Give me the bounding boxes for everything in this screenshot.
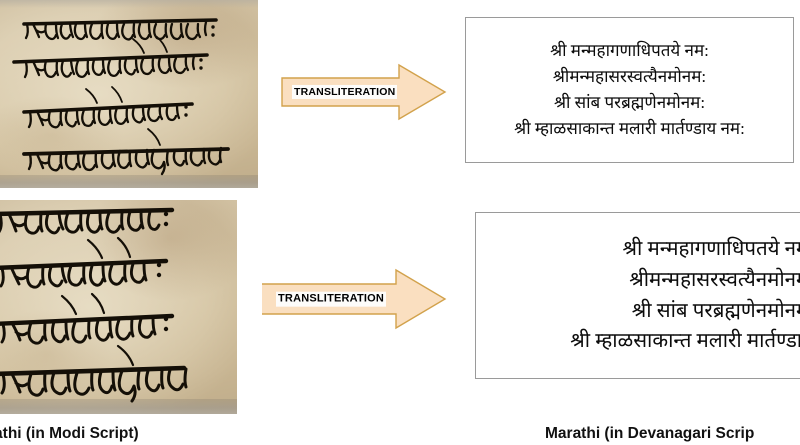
devanagari-textbox-top: श्री मन्महागणाधिपतये नम: श्रीमन्महासरस्व… bbox=[465, 17, 794, 163]
transliteration-label-top: TRANSLITERATION bbox=[292, 85, 397, 99]
transliteration-arrow-top: TRANSLITERATION bbox=[281, 63, 447, 121]
modi-manuscript-zoomed bbox=[0, 200, 237, 414]
modi-manuscript-full bbox=[0, 0, 258, 188]
transliteration-label-bottom: TRANSLITERATION bbox=[276, 292, 386, 307]
caption-devanagari-script: Marathi (in Devanagari Scrip bbox=[545, 425, 754, 443]
devanagari-textbox-bottom: श्री मन्महागणाधिपतये नम: श्रीमन्महासरस्व… bbox=[475, 212, 800, 379]
devanagari-line: श्री मन्महागणाधिपतये नम: bbox=[623, 234, 800, 265]
devanagari-line: श्री मन्महागणाधिपतये नम: bbox=[550, 38, 709, 64]
devanagari-line: श्री म्हाळसाकान्त मलारी मार्तण्डाय bbox=[570, 326, 800, 357]
devanagari-line: श्रीमन्महासरस्वत्यैनमोनम: bbox=[553, 64, 706, 90]
modi-script-ink-bottom bbox=[0, 200, 237, 414]
devanagari-line: श्री सांब परब्रह्मणेनमोनम: bbox=[554, 90, 705, 116]
transliteration-arrow-bottom: TRANSLITERATION bbox=[262, 268, 447, 330]
modi-script-ink-top bbox=[0, 0, 258, 188]
devanagari-line: श्रीमन्महासरस्वत्यैनमोनम: bbox=[629, 265, 800, 296]
devanagari-line: श्री म्हाळसाकान्त मलारी मार्तण्डाय नम: bbox=[514, 116, 745, 142]
devanagari-line: श्री सांब परब्रह्मणेनमोनम: bbox=[632, 296, 800, 327]
caption-modi-script: rathi (in Modi Script) bbox=[0, 425, 139, 443]
